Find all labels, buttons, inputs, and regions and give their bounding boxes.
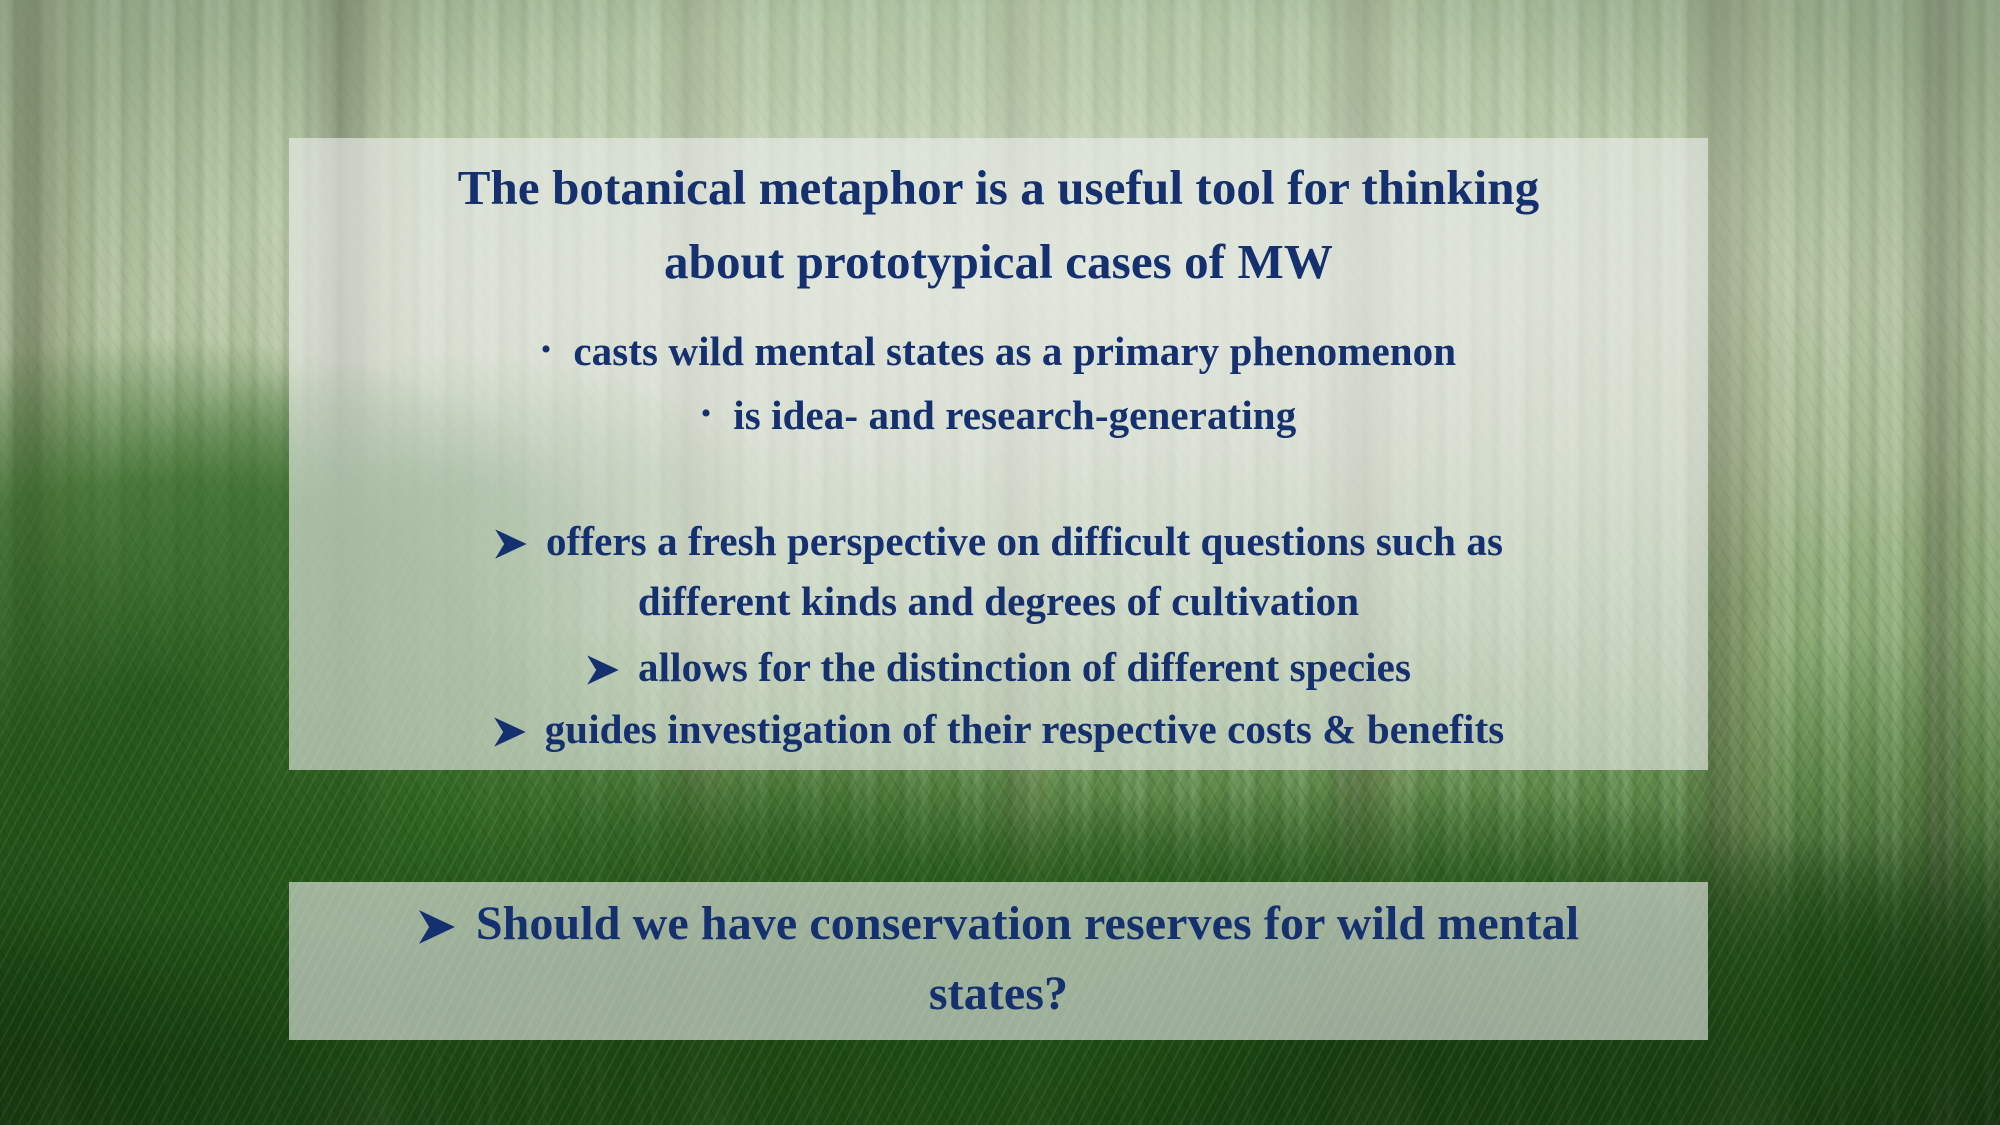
bullet-item-1: • casts wild mental states as a primary … — [289, 322, 1708, 385]
arrowhead-bullet-icon — [493, 717, 527, 747]
arrowhead-bullet-icon — [586, 655, 620, 685]
dot-bullet-icon: • — [541, 321, 552, 379]
arrowhead-bullet-icon — [418, 910, 456, 944]
bullet-item-2-text: is idea- and research-generating — [733, 386, 1296, 444]
question-line-1-text: Should we have conservation reserves for… — [476, 888, 1579, 960]
bullet-item-4: allows for the distinction of different … — [289, 638, 1708, 696]
main-text-panel: The botanical metaphor is a useful tool … — [289, 138, 1708, 770]
bullet-item-4-text: allows for the distinction of different … — [638, 638, 1411, 696]
question-text-panel: Should we have conservation reserves for… — [289, 882, 1708, 1040]
question-line-1-row: Should we have conservation reserves for… — [289, 888, 1708, 960]
slide-canvas: The botanical metaphor is a useful tool … — [0, 0, 2000, 1125]
bullet-item-1-text: casts wild mental states as a primary ph… — [573, 322, 1456, 380]
slide-title-line-1: The botanical metaphor is a useful tool … — [289, 150, 1708, 226]
bullet-item-5-text: guides investigation of their respective… — [545, 700, 1505, 758]
bullet-item-3-continuation: different kinds and degrees of cultivati… — [289, 572, 1708, 630]
slide-title-line-2: about prototypical cases of MW — [289, 224, 1708, 300]
bullet-item-5: guides investigation of their respective… — [289, 700, 1708, 758]
question-line-2-text: states? — [289, 958, 1708, 1030]
bullet-item-2: • is idea- and research-generating — [289, 386, 1708, 449]
bullet-item-3: offers a fresh perspective on difficult … — [289, 512, 1708, 570]
bullet-item-3-text: offers a fresh perspective on difficult … — [546, 512, 1503, 570]
dot-bullet-icon: • — [701, 385, 712, 443]
arrowhead-bullet-icon — [494, 529, 528, 559]
